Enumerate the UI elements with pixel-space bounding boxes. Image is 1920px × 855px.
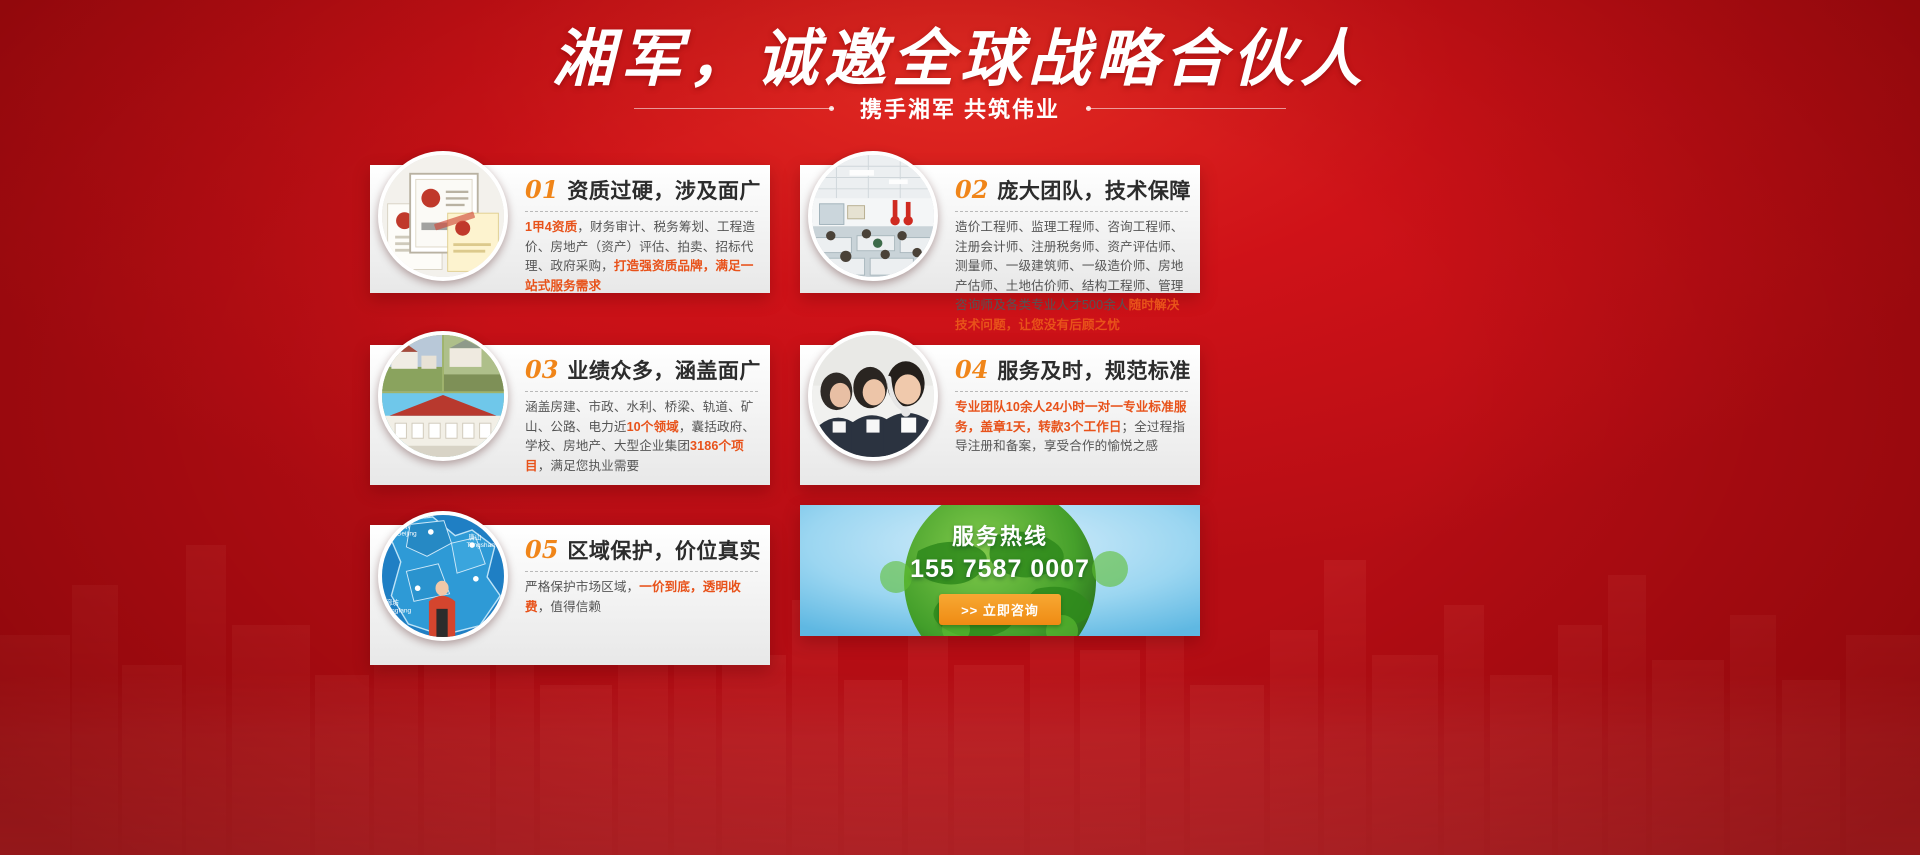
card-04-divider bbox=[955, 391, 1188, 392]
cards-row-1: 01 资质过硬，涉及面广 1甲4资质，财务审计、税务筹划、工程造价、房地产（资产… bbox=[370, 165, 1200, 330]
office-photo bbox=[808, 151, 938, 281]
desc-run-1: 10个领域 bbox=[627, 420, 679, 434]
feature-card-05[interactable]: 北京Beijing 唐山Tangshan 廊坊Langfang 天津Tianji… bbox=[370, 525, 770, 665]
svg-text:Beijing: Beijing bbox=[397, 531, 417, 538]
card-05-divider bbox=[525, 571, 758, 572]
customer-service-photo bbox=[808, 331, 938, 461]
svg-text:唐山: 唐山 bbox=[468, 532, 481, 541]
card-01-number: 01 bbox=[525, 175, 558, 204]
svg-text:廊坊: 廊坊 bbox=[386, 598, 400, 607]
card-01-divider bbox=[525, 211, 758, 212]
hotline-number: 155 7587 0007 bbox=[910, 555, 1090, 584]
card-03-divider bbox=[525, 391, 758, 392]
svg-text:北京: 北京 bbox=[397, 521, 411, 530]
cards-row-2: 03 业绩众多，涵盖面广 涵盖房建、市政、水利、桥梁、轨道、矿山、公路、电力近1… bbox=[370, 345, 1200, 510]
card-03-head: 03 业绩众多，涵盖面广 bbox=[525, 355, 758, 385]
hotline-content: 服务热线 155 7587 0007 >> 立即咨询 bbox=[800, 505, 1200, 636]
card-04-body: 04 服务及时，规范标准 专业团队10余人24小时一对一专业标准服务，盖章1天，… bbox=[955, 355, 1188, 477]
divider-line-left bbox=[634, 108, 834, 109]
svg-text:Tangshan: Tangshan bbox=[466, 542, 495, 549]
card-02-description: 造价工程师、监理工程师、咨询工程师、注册会计师、注册税务师、资产评估师、测量师、… bbox=[955, 218, 1188, 335]
page-title: 湘军，诚邀全球战略合伙人 bbox=[0, 20, 1920, 98]
card-03-headline: 业绩众多，涵盖面广 bbox=[567, 355, 761, 385]
svg-text:Langfang: Langfang bbox=[384, 608, 412, 615]
card-05-body: 05 区域保护，价位真实 严格保护市场区域，一价到底，透明收费，值得信赖 bbox=[525, 535, 758, 657]
desc-run-4: ，满足您执业需要 bbox=[538, 459, 640, 473]
page-subtitle: 携手湘军 共筑伟业 bbox=[860, 92, 1060, 124]
hotline-title: 服务热线 bbox=[952, 519, 1048, 551]
certificates-photo bbox=[378, 151, 508, 281]
page-header: 湘军，诚邀全球战略合伙人 携手湘军 共筑伟业 bbox=[0, 0, 1920, 150]
card-01-body: 01 资质过硬，涉及面广 1甲4资质，财务审计、税务筹划、工程造价、房地产（资产… bbox=[525, 175, 758, 285]
subtitle-row: 携手湘军 共筑伟业 bbox=[0, 92, 1920, 124]
card-02-divider bbox=[955, 211, 1188, 212]
card-01-description: 1甲4资质，财务审计、税务筹划、工程造价、房地产（资产）评估、拍卖、招标代理、政… bbox=[525, 218, 758, 296]
card-04-head: 04 服务及时，规范标准 bbox=[955, 355, 1188, 385]
feature-card-04[interactable]: 04 服务及时，规范标准 专业团队10余人24小时一对一专业标准服务，盖章1天，… bbox=[800, 345, 1200, 485]
desc-run-0: 严格保护市场区域， bbox=[525, 580, 639, 594]
card-05-number: 05 bbox=[525, 535, 558, 564]
card-03-body: 03 业绩众多，涵盖面广 涵盖房建、市政、水利、桥梁、轨道、矿山、公路、电力近1… bbox=[525, 355, 758, 477]
card-05-headline: 区域保护，价位真实 bbox=[567, 535, 761, 565]
card-03-description: 涵盖房建、市政、水利、桥梁、轨道、矿山、公路、电力近10个领域，囊括政府、学校、… bbox=[525, 398, 758, 476]
desc-run-0: 1甲4资质 bbox=[525, 220, 577, 234]
promo-page: 湘军，诚邀全球战略合伙人 携手湘军 共筑伟业 bbox=[0, 0, 1920, 855]
card-01-head: 01 资质过硬，涉及面广 bbox=[525, 175, 758, 205]
card-05-description: 严格保护市场区域，一价到底，透明收费，值得信赖 bbox=[525, 578, 758, 617]
card-04-number: 04 bbox=[955, 355, 988, 384]
feature-card-02[interactable]: 02 庞大团队，技术保障 造价工程师、监理工程师、咨询工程师、注册会计师、注册税… bbox=[800, 165, 1200, 293]
card-02-headline: 庞大团队，技术保障 bbox=[997, 175, 1191, 205]
card-04-description: 专业团队10余人24小时一对一专业标准服务，盖章1天，转款3个工作日；全过程指导… bbox=[955, 398, 1188, 457]
feature-card-03[interactable]: 03 业绩众多，涵盖面广 涵盖房建、市政、水利、桥梁、轨道、矿山、公路、电力近1… bbox=[370, 345, 770, 485]
card-03-number: 03 bbox=[525, 355, 558, 384]
projects-photo bbox=[378, 331, 508, 461]
card-02-body: 02 庞大团队，技术保障 造价工程师、监理工程师、咨询工程师、注册会计师、注册税… bbox=[955, 175, 1188, 285]
feature-card-01[interactable]: 01 资质过硬，涉及面广 1甲4资质，财务审计、税务筹划、工程造价、房地产（资产… bbox=[370, 165, 770, 293]
card-01-headline: 资质过硬，涉及面广 bbox=[567, 175, 761, 205]
divider-line-right bbox=[1086, 108, 1286, 109]
card-05-head: 05 区域保护，价位真实 bbox=[525, 535, 758, 565]
card-04-headline: 服务及时，规范标准 bbox=[997, 355, 1191, 385]
hotline-panel: 服务热线 155 7587 0007 >> 立即咨询 bbox=[800, 505, 1200, 636]
card-02-number: 02 bbox=[955, 175, 988, 204]
card-02-head: 02 庞大团队，技术保障 bbox=[955, 175, 1188, 205]
desc-run-2: ，值得信赖 bbox=[538, 600, 601, 614]
consult-now-button[interactable]: >> 立即咨询 bbox=[939, 594, 1061, 625]
region-map-photo: 北京Beijing 唐山Tangshan 廊坊Langfang 天津Tianji… bbox=[378, 511, 508, 641]
